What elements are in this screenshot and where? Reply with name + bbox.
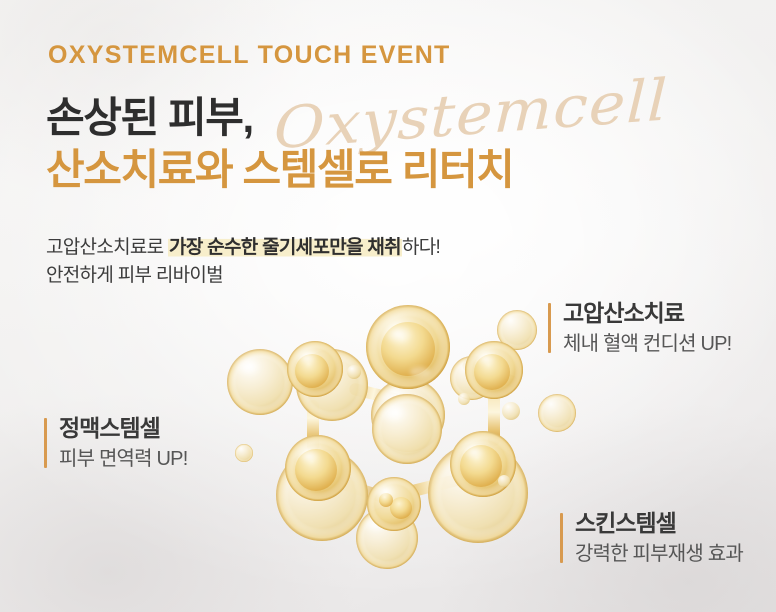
page-title: 손상된 피부, 산소치료와 스템셀로 리터치 — [46, 96, 513, 192]
subcopy-line1-post: 하다! — [402, 237, 440, 258]
promo-banner: Oxystemcell OXYSTEMCELL TOUCH EVENT 손상된 … — [0, 0, 776, 612]
subcopy-line1-pre: 고압산소치료로 — [46, 237, 168, 258]
golden-molecule-graphic — [212, 272, 584, 612]
callout-title: 정맥스템셀 — [59, 414, 187, 443]
callout-subtitle: 체내 혈액 컨디션 UP! — [563, 331, 731, 358]
callout-high-pressure-oxygen: 고압산소치료 체내 혈액 컨디션 UP! — [548, 299, 731, 358]
headline-line-2: 산소치료와 스템셀로 리터치 — [46, 148, 513, 193]
callout-subtitle: 강력한 피부재생 효과 — [575, 541, 743, 568]
callout-vein-stemcell: 정맥스템셀 피부 면역력 UP! — [44, 414, 187, 473]
callout-subtitle: 피부 면역력 UP! — [59, 446, 187, 473]
callout-title: 고압산소치료 — [563, 299, 731, 328]
subcopy-highlight: 가장 순수한 줄기세포만을 채취 — [168, 237, 402, 258]
eyebrow-text: OXYSTEMCELL TOUCH EVENT — [48, 41, 451, 70]
callout-skin-stemcell: 스킨스템셀 강력한 피부재생 효과 — [560, 509, 743, 568]
headline-line-1: 손상된 피부, — [46, 96, 513, 141]
callout-title: 스킨스템셀 — [575, 509, 743, 538]
